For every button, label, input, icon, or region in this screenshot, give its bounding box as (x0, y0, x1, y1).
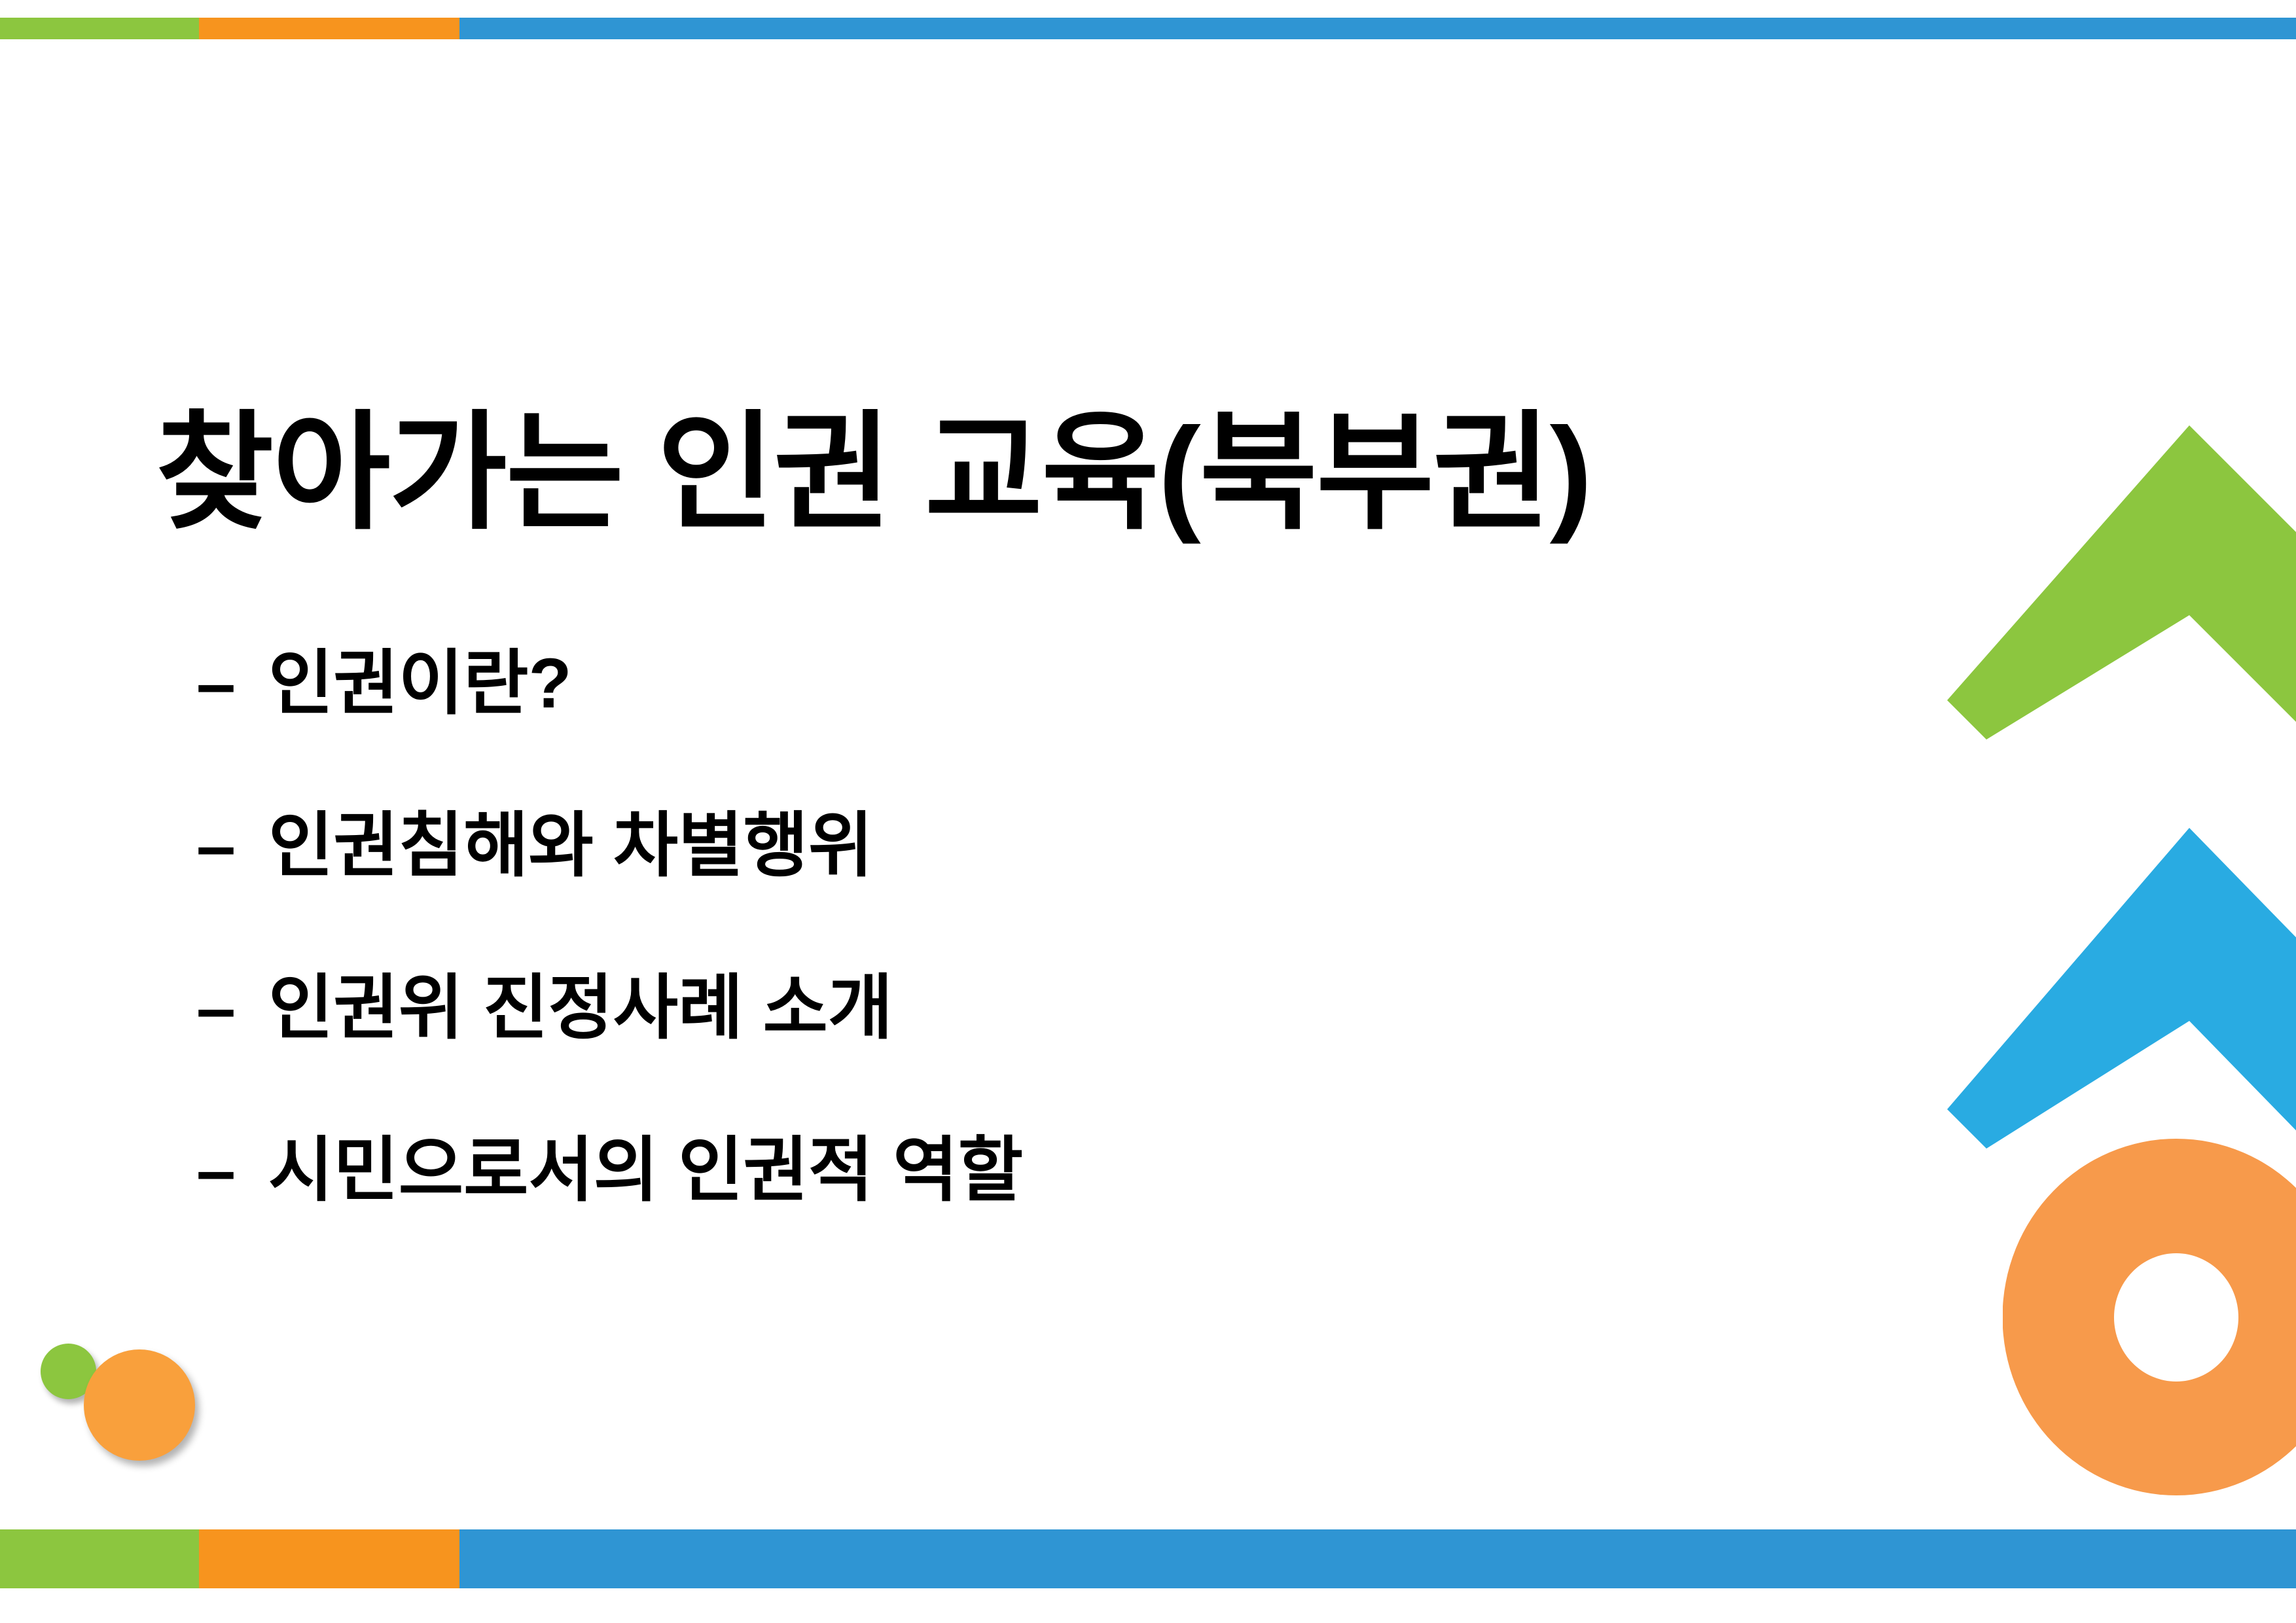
dash-marker-icon: – (196, 810, 268, 881)
slide-canvas: 찾아가는 인권 교육(북부권) – 인권이란? – 인권침해와 차별행위 – 인… (0, 0, 2296, 1623)
bullet-item-4: – 시민으로서의 인권적 역할 (196, 1135, 1767, 1297)
top-rule-green-segment (0, 18, 199, 39)
slide-title: 찾아가는 인권 교육(북부권) (156, 409, 1857, 537)
ring-orange-icon (2003, 1139, 2296, 1495)
dash-marker-icon: – (196, 1135, 268, 1205)
bullet-item-3: – 인권위 진정사례 소개 (196, 972, 1767, 1135)
bullet-item-3-label: 인권위 진정사례 소개 (268, 972, 1767, 1043)
bottom-rule (0, 1529, 2296, 1588)
bullet-item-1: – 인권이란? (196, 648, 1767, 810)
top-rule-blue-segment (459, 18, 2296, 39)
top-rule (0, 18, 2296, 39)
bullet-item-2-label: 인권침해와 차별행위 (268, 810, 1767, 881)
dot-orange-icon (84, 1349, 195, 1461)
chevron-up-blue-icon (1947, 815, 2296, 1162)
dash-marker-icon: – (196, 648, 268, 719)
bottom-rule-green-segment (0, 1529, 199, 1588)
chevron-up-green-icon (1947, 412, 2296, 740)
bullet-item-4-label: 시민으로서의 인권적 역할 (268, 1135, 1767, 1205)
top-rule-orange-segment (199, 18, 459, 39)
bullet-item-2: – 인권침해와 차별행위 (196, 810, 1767, 972)
bullet-item-1-label: 인권이란? (268, 648, 1767, 719)
bottom-rule-orange-segment (199, 1529, 459, 1588)
bullet-list: – 인권이란? – 인권침해와 차별행위 – 인권위 진정사례 소개 – 시민으… (196, 648, 1767, 1297)
dash-marker-icon: – (196, 972, 268, 1043)
bottom-rule-blue-segment (459, 1529, 2296, 1588)
